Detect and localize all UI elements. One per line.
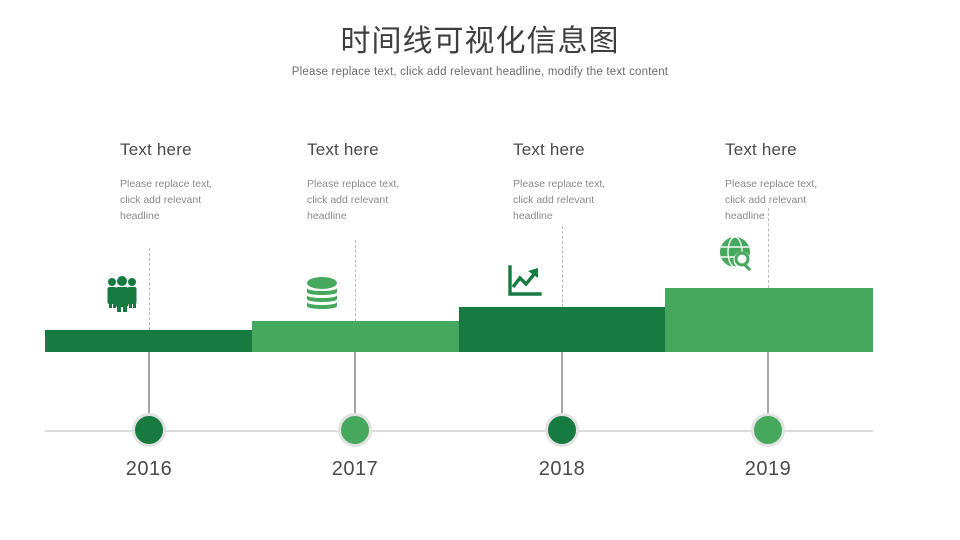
header: 时间线可视化信息图 Please replace text, click add…: [0, 22, 960, 78]
year-label-2016: 2016: [89, 458, 209, 481]
stair-bar-1: [252, 321, 459, 352]
node-stem-1: [354, 352, 356, 414]
milestone-body: Please replace text, click add relevant …: [307, 176, 419, 224]
milestone-heading: Text here: [120, 140, 280, 160]
dashed-connector-3: [768, 208, 769, 288]
year-label-2019: 2019: [708, 458, 828, 481]
year-label-2018: 2018: [502, 458, 622, 481]
dashed-connector-2: [562, 226, 563, 307]
timeline-node-2016[interactable]: [132, 413, 166, 447]
milestone-body: Please replace text, click add relevant …: [725, 176, 837, 224]
node-stem-3: [767, 352, 769, 414]
year-label-2017: 2017: [295, 458, 415, 481]
page-title: 时间线可视化信息图: [0, 22, 960, 62]
node-stem-0: [148, 352, 150, 414]
timeline-node-2019[interactable]: [751, 413, 785, 447]
milestone-heading: Text here: [725, 140, 885, 160]
globe-search-icon: [715, 232, 759, 276]
growth-chart-icon: [503, 260, 547, 304]
milestone-text-3: Text here Please replace text, click add…: [725, 140, 885, 224]
page-subtitle: Please replace text, click add relevant …: [0, 66, 960, 78]
milestone-body: Please replace text, click add relevant …: [513, 176, 625, 224]
milestone-text-2: Text here Please replace text, click add…: [513, 140, 673, 224]
people-group-icon: [100, 272, 144, 316]
stair-bar-0: [45, 330, 252, 352]
coins-stack-icon: [300, 272, 344, 316]
timeline-node-2017[interactable]: [338, 413, 372, 447]
stair-bar-2: [459, 307, 665, 352]
timeline-node-2018[interactable]: [545, 413, 579, 447]
milestone-text-0: Text here Please replace text, click add…: [120, 140, 280, 224]
milestone-heading: Text here: [307, 140, 467, 160]
dashed-connector-1: [355, 240, 356, 321]
milestone-text-1: Text here Please replace text, click add…: [307, 140, 467, 224]
node-stem-2: [561, 352, 563, 414]
stair-bar-3: [665, 288, 873, 352]
milestone-heading: Text here: [513, 140, 673, 160]
timeline-axis: [45, 430, 873, 432]
dashed-connector-0: [149, 248, 150, 330]
milestone-body: Please replace text, click add relevant …: [120, 176, 232, 224]
slide-canvas: 时间线可视化信息图 Please replace text, click add…: [0, 0, 960, 540]
